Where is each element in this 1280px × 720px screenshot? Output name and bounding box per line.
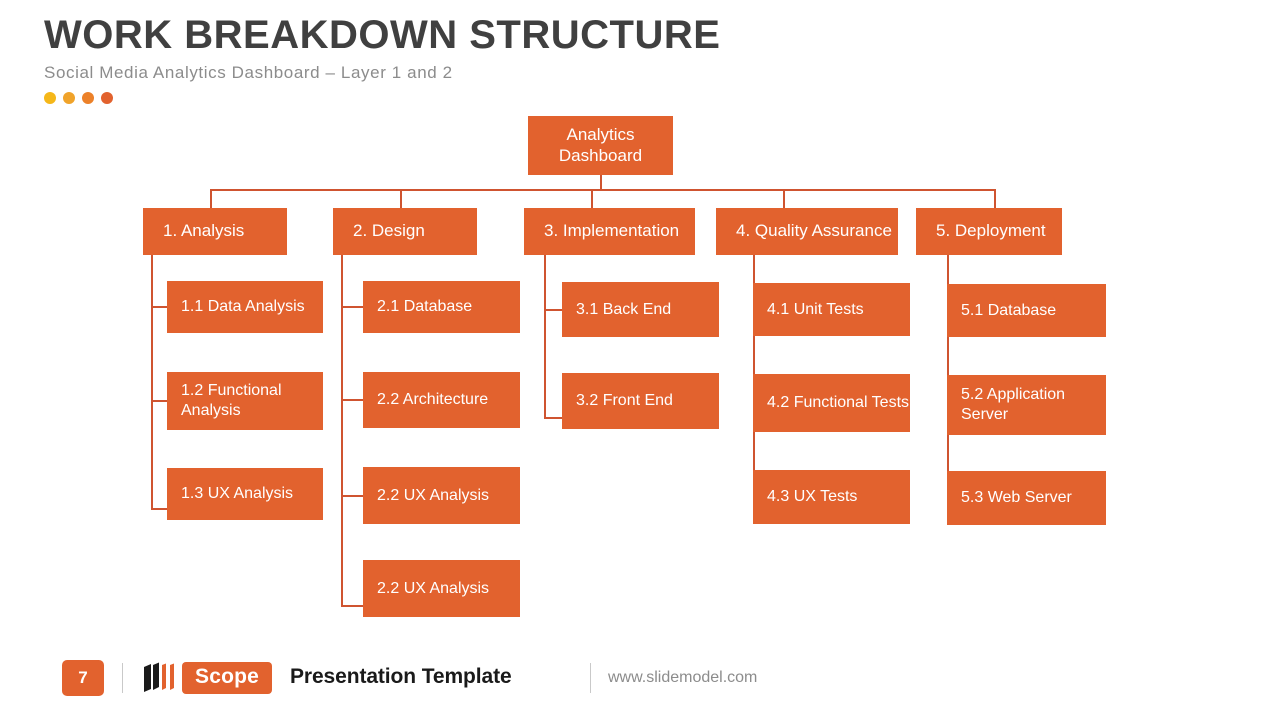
footer-template-label: Presentation Template (290, 665, 512, 689)
level2-stub-connector-3-2 (544, 417, 562, 419)
level2-node-1-3[interactable]: 1.3 UX Analysis (167, 468, 323, 520)
level2-node-4-2[interactable]: 4.2 Functional Tests (753, 374, 910, 432)
level2-node-1-2[interactable]: 1.2 Functional Analysis (167, 372, 323, 430)
level2-node-2-3[interactable]: 2.2 UX Analysis (363, 467, 520, 524)
level2-stub-connector-2-1 (341, 306, 363, 308)
level2-node-4-3[interactable]: 4.3 UX Tests (753, 470, 910, 524)
level1-node-1[interactable]: 1. Analysis (143, 208, 287, 255)
level1-drop-connector-2 (400, 189, 402, 208)
level1-drop-connector-4 (783, 189, 785, 208)
level2-node-2-4[interactable]: 2.2 UX Analysis (363, 560, 520, 617)
level2-stub-connector-2-3 (341, 495, 363, 497)
wbs-diagram: AnalyticsDashboard1. Analysis1.1 Data An… (0, 0, 1280, 660)
root-stem-connector (600, 175, 602, 189)
level1-drop-connector-3 (591, 189, 593, 208)
level2-stub-connector-3-1 (544, 309, 562, 311)
root-node-label-line1: Analytics (528, 125, 673, 146)
slidemodel-logo-icon (140, 661, 176, 695)
level2-node-5-1[interactable]: 5.1 Database (947, 284, 1106, 337)
level2-node-3-1[interactable]: 3.1 Back End (562, 282, 719, 337)
level1-drop-connector-5 (994, 189, 996, 208)
level2-node-5-2[interactable]: 5.2 Application Server (947, 375, 1106, 435)
level2-node-2-2[interactable]: 2.2 Architecture (363, 372, 520, 428)
page-number-badge: 7 (62, 660, 104, 696)
level1-node-3[interactable]: 3. Implementation (524, 208, 695, 255)
scope-logo-pill: Scope (182, 662, 272, 694)
root-node[interactable]: AnalyticsDashboard (528, 116, 673, 175)
level2-stub-connector-1-2 (151, 400, 167, 402)
level2-stub-connector-1-3 (151, 508, 167, 510)
level2-spine-connector-1 (151, 255, 153, 508)
level1-node-4[interactable]: 4. Quality Assurance (716, 208, 898, 255)
footer: 7 Scope Presentation Template www.slidem… (0, 658, 1280, 720)
level1-bus-connector (210, 189, 994, 191)
root-node-label-line2: Dashboard (528, 146, 673, 167)
level2-stub-connector-2-2 (341, 399, 363, 401)
footer-divider-right (590, 663, 591, 693)
level1-drop-connector-1 (210, 189, 212, 208)
footer-divider-left (122, 663, 123, 693)
level2-spine-connector-3 (544, 255, 546, 417)
level1-node-5[interactable]: 5. Deployment (916, 208, 1062, 255)
level2-node-1-1[interactable]: 1.1 Data Analysis (167, 281, 323, 333)
level2-stub-connector-1-1 (151, 306, 167, 308)
level2-node-4-1[interactable]: 4.1 Unit Tests (753, 283, 910, 336)
level2-node-3-2[interactable]: 3.2 Front End (562, 373, 719, 429)
level1-node-2[interactable]: 2. Design (333, 208, 477, 255)
footer-url: www.slidemodel.com (608, 669, 757, 687)
level2-node-2-1[interactable]: 2.1 Database (363, 281, 520, 333)
level2-stub-connector-2-4 (341, 605, 363, 607)
root-node-label: AnalyticsDashboard (528, 125, 673, 166)
level2-node-5-3[interactable]: 5.3 Web Server (947, 471, 1106, 525)
